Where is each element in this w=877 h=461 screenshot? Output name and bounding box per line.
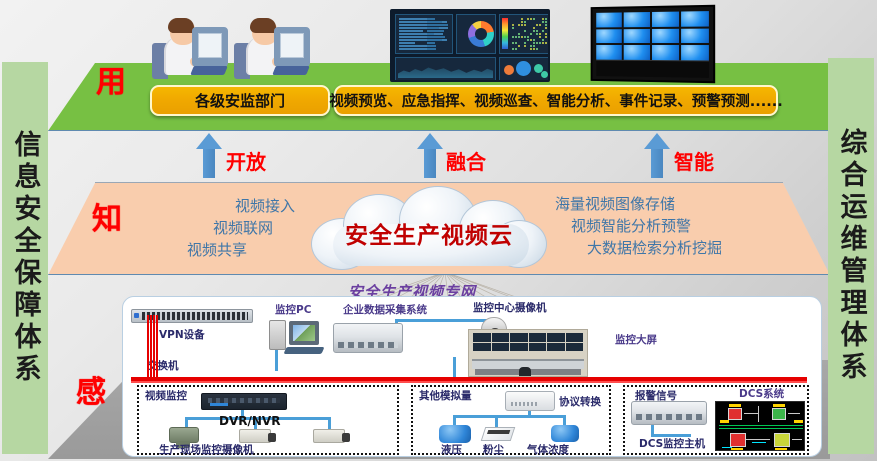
dcs-host-icon [631, 401, 707, 425]
cloud-title: 安全生产视频云 [303, 216, 555, 250]
dvr-nvr-icon [201, 393, 287, 410]
video-surveillance-title: 视频监控 [145, 391, 187, 402]
big-screen-label: 监控大屏 [615, 335, 657, 346]
perception-detail-panel: VPN设备 交换机 监控PC 企业数据采集系统 监控中心摄像机 监控大屏 视频监… [122, 296, 822, 457]
arrow-label-intelligent: 智能 [674, 152, 714, 172]
cognition-layer-top-edge [95, 182, 783, 183]
up-arrow-open [196, 133, 222, 178]
left-banner-information-security: 信息安全保障体系 [2, 62, 48, 454]
dust-sensor-icon [481, 427, 516, 441]
functions-box[interactable]: 视频预览、应急指挥、视频巡查、智能分析、事件记录、预警预测...... [334, 85, 778, 116]
control-center-photo [468, 329, 588, 377]
center-camera-label: 监控中心摄像机 [473, 303, 547, 314]
dcs-system-screen [715, 401, 805, 451]
protocol-convert-label: 协议转换 [559, 397, 601, 408]
analytics-dashboard-image [390, 9, 550, 82]
site-camera-label: 生产现场监控摄像机 [159, 445, 254, 456]
operators-at-computers-image [150, 5, 310, 81]
cloud-capability-item: 视频智能分析预警 [555, 216, 785, 238]
up-arrow-intelligent [644, 133, 670, 178]
layer-tag-sense: 感 [76, 378, 106, 408]
protocol-converter-icon [505, 391, 555, 411]
box-camera-icon [239, 429, 271, 443]
right-banner-label: 综合运维管理体系 [838, 128, 865, 384]
vpn-device-label: VPN设备 [159, 330, 205, 341]
pc-keyboard-icon [283, 347, 324, 354]
architecture-diagram: 信息安全保障体系 综合运维管理体系 用 知 感 各级安监部门 视频 [0, 0, 877, 461]
dvr-nvr-label: DVR/NVR [219, 415, 280, 427]
analog-group-title: 其他模拟量 [419, 391, 472, 402]
cloud-left-capabilities: 视频接入视频联网视频共享 [120, 196, 295, 261]
left-banner-label: 信息安全保障体系 [12, 130, 39, 386]
cloud-capability-item: 视频联网 [120, 218, 295, 240]
ptz-camera-icon [169, 427, 199, 443]
alarm-bus-line-secondary [131, 381, 807, 383]
dust-label: 粉尘 [483, 445, 504, 456]
pc-monitor-icon [289, 321, 319, 345]
cloud-capability-item: 视频共享 [120, 240, 295, 262]
cloud-capability-item: 海量视频图像存储 [555, 194, 785, 216]
operator-figure [232, 11, 310, 81]
arrow-label-fusion: 融合 [446, 152, 486, 172]
data-collection-server-icon [333, 323, 403, 353]
layer-tag-know: 知 [92, 205, 122, 235]
alarm-group-title: 报警信号 [635, 391, 677, 402]
video-wall-image [591, 5, 716, 83]
arrow-label-open: 开放 [226, 152, 266, 172]
gas-density-label: 气体浓度 [527, 445, 569, 456]
hydraulic-sensor-icon [439, 425, 471, 443]
box-camera-icon [313, 429, 345, 443]
data-collection-label: 企业数据采集系统 [343, 305, 427, 316]
monitor-pc-label: 监控PC [275, 305, 311, 316]
department-box[interactable]: 各级安监部门 [150, 85, 330, 116]
cloud-capability-item: 视频接入 [120, 196, 295, 218]
cloud-capability-item: 大数据检索分析挖掘 [555, 238, 785, 260]
layer-tag-use: 用 [96, 68, 126, 98]
dcs-system-label: DCS系统 [739, 389, 784, 400]
right-banner-operation-management: 综合运维管理体系 [828, 58, 874, 454]
up-arrow-fusion [417, 133, 443, 178]
cloud-right-capabilities: 海量视频图像存储视频智能分析预警大数据检索分析挖掘 [555, 194, 785, 259]
gas-sensor-icon [551, 425, 579, 442]
dcs-host-label: DCS监控主机 [639, 439, 705, 450]
pc-tower-icon [269, 320, 286, 350]
hydraulic-label: 液压 [441, 445, 462, 456]
operator-figure [150, 11, 228, 81]
